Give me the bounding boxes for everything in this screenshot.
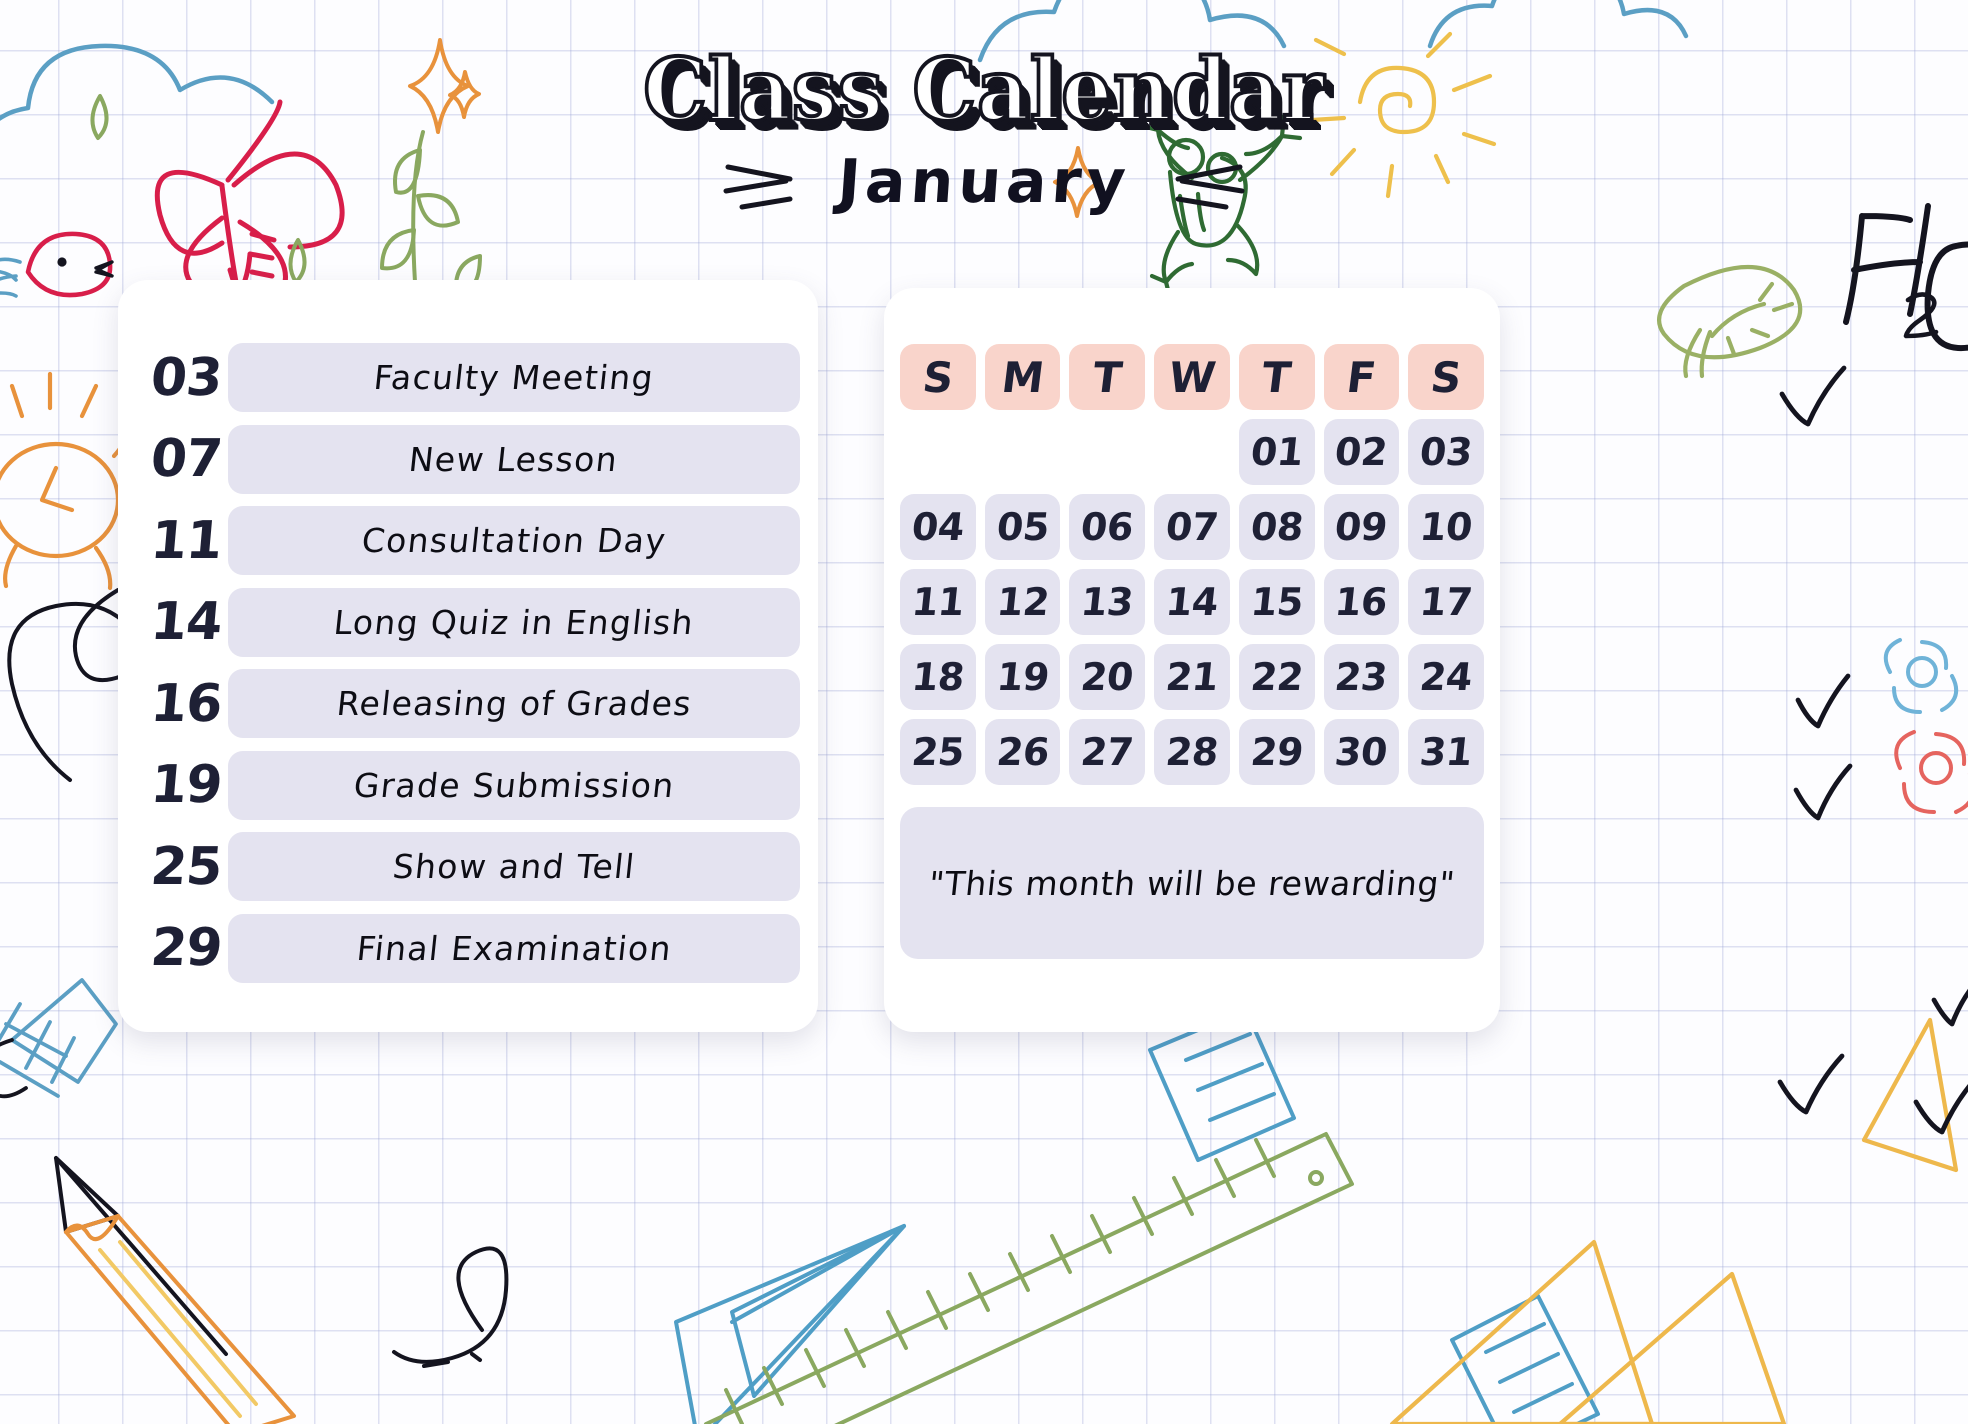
weekday-header-cell: M bbox=[985, 344, 1061, 410]
event-day-number: 25 bbox=[133, 837, 230, 897]
event-pill[interactable]: Faculty Meeting bbox=[228, 343, 800, 412]
calendar-date-cell[interactable]: 30 bbox=[1324, 719, 1400, 785]
calendar-date-cell[interactable]: 17 bbox=[1408, 569, 1484, 635]
calendar-date-cell[interactable]: 24 bbox=[1408, 644, 1484, 710]
calendar-date-label: 25 bbox=[910, 730, 967, 774]
calendar-date-cell[interactable]: 29 bbox=[1239, 719, 1315, 785]
event-label: Releasing of Grades bbox=[334, 684, 693, 723]
calendar-empty-cell bbox=[900, 419, 976, 485]
weekday-header-label: W bbox=[1166, 353, 1218, 402]
calendar-date-cell[interactable]: 08 bbox=[1239, 494, 1315, 560]
event-label: Long Quiz in English bbox=[332, 603, 696, 642]
weekday-header-label: F bbox=[1344, 353, 1379, 402]
calendar-week-row: 18192021222324 bbox=[900, 644, 1484, 710]
calendar-date-cell[interactable]: 21 bbox=[1154, 644, 1230, 710]
event-label: Grade Submission bbox=[352, 766, 677, 805]
calendar-date-label: 27 bbox=[1079, 730, 1136, 774]
event-label: New Lesson bbox=[407, 440, 620, 479]
calendar-date-label: 29 bbox=[1248, 730, 1305, 774]
calendar-date-cell[interactable]: 26 bbox=[985, 719, 1061, 785]
event-day-number: 14 bbox=[133, 592, 230, 652]
calendar-weeks: 0102030405060708091011121314151617181920… bbox=[900, 419, 1484, 785]
event-day-number: 19 bbox=[133, 755, 230, 815]
calendar-date-label: 28 bbox=[1164, 730, 1221, 774]
event-row[interactable]: 14Long Quiz in English bbox=[136, 588, 800, 657]
calendar-week-row: 04050607080910 bbox=[900, 494, 1484, 560]
event-label: Consultation Day bbox=[360, 521, 668, 560]
calendar-date-cell[interactable]: 20 bbox=[1069, 644, 1145, 710]
event-row[interactable]: 07New Lesson bbox=[136, 425, 800, 494]
weekday-header-cell: T bbox=[1239, 344, 1315, 410]
calendar-date-cell[interactable]: 13 bbox=[1069, 569, 1145, 635]
weekday-header-label: T bbox=[1259, 353, 1294, 402]
calendar-date-label: 03 bbox=[1418, 430, 1475, 474]
calendar-date-label: 08 bbox=[1248, 505, 1305, 549]
calendar-date-cell[interactable]: 28 bbox=[1154, 719, 1230, 785]
weekday-header-cell: S bbox=[1408, 344, 1484, 410]
event-day-number: 16 bbox=[133, 674, 230, 734]
event-day-number: 11 bbox=[133, 511, 230, 571]
quote-box: "This month will be rewarding" bbox=[900, 807, 1484, 959]
month-row: January bbox=[0, 147, 1968, 217]
calendar-date-cell[interactable]: 05 bbox=[985, 494, 1061, 560]
weekday-header-cell: W bbox=[1154, 344, 1230, 410]
calendar-date-cell[interactable]: 23 bbox=[1324, 644, 1400, 710]
calendar-date-label: 04 bbox=[910, 505, 967, 549]
event-label: Final Examination bbox=[354, 929, 673, 968]
weekday-header-cell: F bbox=[1324, 344, 1400, 410]
event-label: Faculty Meeting bbox=[372, 358, 656, 397]
flourish-lines-left-icon bbox=[720, 153, 798, 211]
calendar-week-row: 25262728293031 bbox=[900, 719, 1484, 785]
month-label: January bbox=[835, 147, 1132, 217]
calendar-date-label: 10 bbox=[1418, 505, 1475, 549]
calendar-date-label: 19 bbox=[994, 655, 1051, 699]
weekday-header-cell: T bbox=[1069, 344, 1145, 410]
calendar-date-label: 06 bbox=[1079, 505, 1136, 549]
calendar-date-cell[interactable]: 01 bbox=[1239, 419, 1315, 485]
event-row[interactable]: 19Grade Submission bbox=[136, 751, 800, 820]
event-pill[interactable]: Consultation Day bbox=[228, 506, 800, 575]
event-row[interactable]: 25Show and Tell bbox=[136, 832, 800, 901]
calendar-date-cell[interactable]: 19 bbox=[985, 644, 1061, 710]
calendar-date-label: 30 bbox=[1333, 730, 1390, 774]
calendar-empty-cell bbox=[1154, 419, 1230, 485]
events-card: 03Faculty Meeting07New Lesson11Consultat… bbox=[118, 280, 818, 1032]
calendar-date-cell[interactable]: 06 bbox=[1069, 494, 1145, 560]
calendar-date-label: 09 bbox=[1333, 505, 1390, 549]
event-pill[interactable]: Final Examination bbox=[228, 914, 800, 983]
calendar-date-label: 05 bbox=[994, 505, 1051, 549]
calendar-date-cell[interactable]: 16 bbox=[1324, 569, 1400, 635]
calendar-date-label: 21 bbox=[1164, 655, 1221, 699]
event-pill[interactable]: Show and Tell bbox=[228, 832, 800, 901]
calendar-date-label: 13 bbox=[1079, 580, 1136, 624]
calendar-empty-cell bbox=[985, 419, 1061, 485]
calendar-date-cell[interactable]: 31 bbox=[1408, 719, 1484, 785]
calendar-date-cell[interactable]: 09 bbox=[1324, 494, 1400, 560]
calendar-date-cell[interactable]: 11 bbox=[900, 569, 976, 635]
event-pill[interactable]: Grade Submission bbox=[228, 751, 800, 820]
event-pill[interactable]: Releasing of Grades bbox=[228, 669, 800, 738]
calendar-date-label: 02 bbox=[1333, 430, 1390, 474]
calendar-date-cell[interactable]: 04 bbox=[900, 494, 976, 560]
calendar-date-label: 31 bbox=[1418, 730, 1475, 774]
calendar-date-cell[interactable]: 18 bbox=[900, 644, 976, 710]
calendar-date-cell[interactable]: 22 bbox=[1239, 644, 1315, 710]
calendar-date-cell[interactable]: 07 bbox=[1154, 494, 1230, 560]
calendar-empty-cell bbox=[1069, 419, 1145, 485]
calendar-date-label: 15 bbox=[1248, 580, 1305, 624]
event-pill[interactable]: New Lesson bbox=[228, 425, 800, 494]
weekday-header-cell: S bbox=[900, 344, 976, 410]
calendar-date-cell[interactable]: 10 bbox=[1408, 494, 1484, 560]
calendar-date-label: 20 bbox=[1079, 655, 1136, 699]
weekday-header-label: S bbox=[920, 353, 956, 402]
calendar-date-label: 26 bbox=[994, 730, 1051, 774]
calendar-date-cell[interactable]: 25 bbox=[900, 719, 976, 785]
quote-text: "This month will be rewarding" bbox=[927, 864, 1457, 903]
page-header: Class Calendar January bbox=[0, 0, 1968, 217]
weekday-header-label: S bbox=[1428, 353, 1464, 402]
calendar-week-row: 11121314151617 bbox=[900, 569, 1484, 635]
calendar-date-cell[interactable]: 02 bbox=[1324, 419, 1400, 485]
calendar-date-cell[interactable]: 15 bbox=[1239, 569, 1315, 635]
calendar-date-label: 07 bbox=[1164, 505, 1221, 549]
calendar-date-label: 16 bbox=[1333, 580, 1390, 624]
calendar-card: SMTWTFS 01020304050607080910111213141516… bbox=[884, 288, 1500, 1032]
event-day-number: 03 bbox=[133, 348, 230, 408]
event-day-number: 29 bbox=[133, 918, 230, 978]
event-day-number: 07 bbox=[133, 429, 230, 489]
calendar-date-label: 01 bbox=[1248, 430, 1305, 474]
weekday-header-row: SMTWTFS bbox=[900, 344, 1484, 410]
calendar-week-row: 010203 bbox=[900, 419, 1484, 485]
calendar-date-cell[interactable]: 27 bbox=[1069, 719, 1145, 785]
weekday-header-label: T bbox=[1090, 353, 1125, 402]
weekday-header-label: M bbox=[999, 353, 1047, 402]
calendar-date-label: 11 bbox=[910, 580, 967, 624]
event-row[interactable]: 29Final Examination bbox=[136, 914, 800, 983]
calendar-date-cell[interactable]: 12 bbox=[985, 569, 1061, 635]
event-pill[interactable]: Long Quiz in English bbox=[228, 588, 800, 657]
event-row[interactable]: 11Consultation Day bbox=[136, 506, 800, 575]
calendar-date-label: 14 bbox=[1164, 580, 1221, 624]
calendar-date-label: 22 bbox=[1248, 655, 1305, 699]
calendar-date-cell[interactable]: 14 bbox=[1154, 569, 1230, 635]
events-list: 03Faculty Meeting07New Lesson11Consultat… bbox=[136, 343, 800, 983]
calendar-date-label: 24 bbox=[1418, 655, 1475, 699]
event-row[interactable]: 03Faculty Meeting bbox=[136, 343, 800, 412]
flourish-lines-right-icon bbox=[1170, 153, 1248, 211]
page-title: Class Calendar bbox=[69, 0, 1899, 141]
calendar-date-label: 23 bbox=[1333, 655, 1390, 699]
calendar-grid: SMTWTFS 01020304050607080910111213141516… bbox=[900, 344, 1484, 959]
calendar-date-label: 17 bbox=[1418, 580, 1475, 624]
calendar-date-cell[interactable]: 03 bbox=[1408, 419, 1484, 485]
event-label: Show and Tell bbox=[391, 847, 637, 886]
event-row[interactable]: 16Releasing of Grades bbox=[136, 669, 800, 738]
calendar-date-label: 18 bbox=[910, 655, 967, 699]
calendar-date-label: 12 bbox=[994, 580, 1051, 624]
